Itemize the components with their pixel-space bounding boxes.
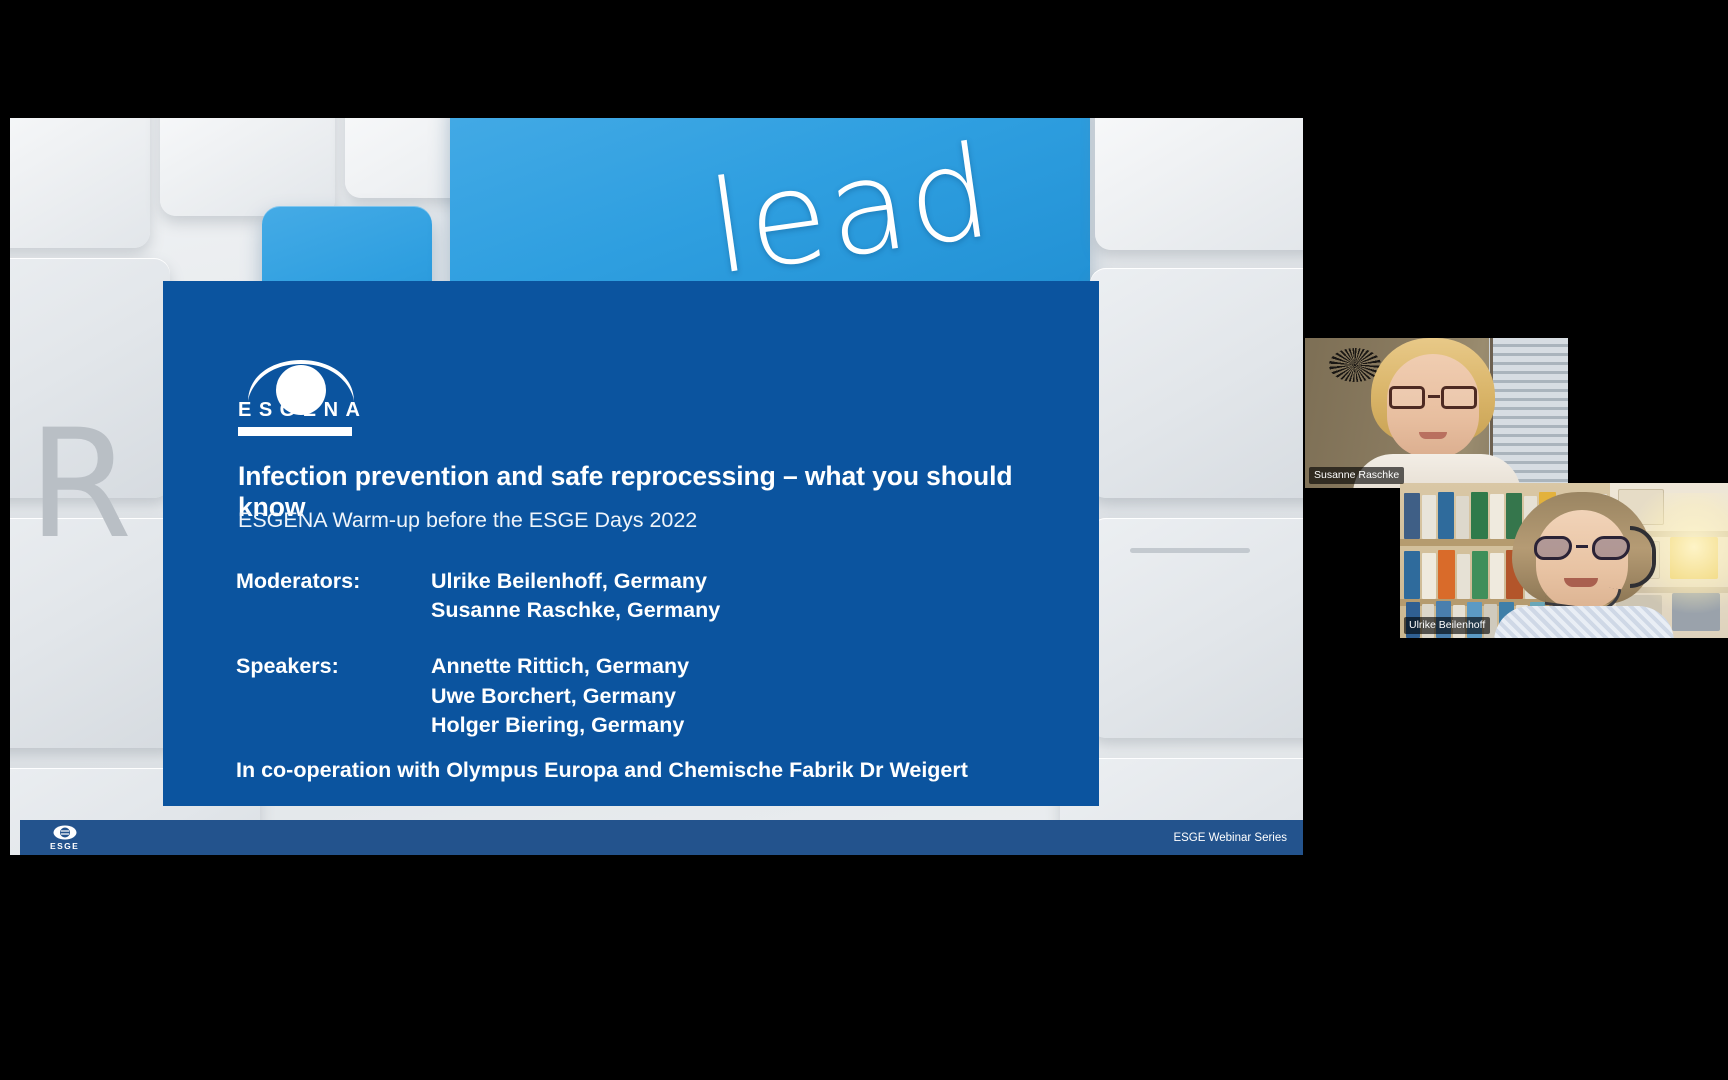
participant-video-person (1508, 492, 1658, 638)
shared-screen-area[interactable]: R lead ESGENA Infection prevention and s… (10, 118, 1303, 855)
meeting-window: R lead ESGENA Infection prevention and s… (0, 0, 1728, 1080)
role-label: Speakers: (236, 652, 431, 740)
video-feed (1400, 483, 1728, 638)
clothing (1494, 606, 1674, 638)
slide-subtitle: ESGENA Warm-up before the ESGE Days 2022 (238, 508, 697, 533)
glasses-icon (1387, 386, 1479, 410)
person-name: Uwe Borchert, Germany (431, 682, 689, 711)
person-name: Ulrike Beilenhoff, Germany (431, 567, 720, 596)
keyboard-mark (1130, 548, 1250, 553)
participant-name-label: Ulrike Beilenhoff (1404, 617, 1490, 634)
slide-roles: Moderators: Ulrike Beilenhoff, Germany S… (236, 567, 720, 767)
participant-tile-susanne-raschke[interactable]: Susanne Raschke (1305, 338, 1568, 488)
cooperation-line: In co-operation with Olympus Europa and … (236, 758, 968, 783)
headset-icon (1630, 526, 1656, 588)
keyboard-key (160, 118, 335, 216)
esge-logo-label: ESGE (50, 841, 79, 851)
keyboard-letter-r: R (28, 398, 132, 572)
role-people: Annette Rittich, Germany Uwe Borchert, G… (431, 652, 689, 740)
keyboard-key (10, 118, 150, 248)
esge-logo: ESGE (50, 825, 79, 851)
slide-content-panel: ESGENA Infection prevention and safe rep… (163, 281, 1099, 806)
esgena-wordmark: ESGENA (238, 399, 367, 422)
esgena-underline (238, 427, 352, 436)
mouth (1419, 432, 1447, 439)
person-name: Susanne Raschke, Germany (431, 596, 720, 625)
slide-footer-bar: ESGE ESGE Webinar Series (20, 820, 1303, 855)
role-people: Ulrike Beilenhoff, Germany Susanne Rasch… (431, 567, 720, 625)
esge-eye-logo-icon (53, 825, 77, 840)
glasses-icon (1534, 536, 1630, 560)
keyboard-key (1090, 268, 1303, 498)
person-name: Holger Biering, Germany (431, 711, 689, 740)
role-block-speakers: Speakers: Annette Rittich, Germany Uwe B… (236, 652, 720, 740)
person-name: Annette Rittich, Germany (431, 652, 689, 681)
slide-footer-right-text: ESGE Webinar Series (1173, 832, 1287, 844)
participant-name-label: Susanne Raschke (1309, 467, 1404, 484)
keyboard-key (1095, 118, 1303, 250)
role-label: Moderators: (236, 567, 431, 625)
role-block-moderators: Moderators: Ulrike Beilenhoff, Germany S… (236, 567, 720, 625)
participant-tile-ulrike-beilenhoff[interactable]: Ulrike Beilenhoff (1400, 483, 1728, 638)
participant-video-person (1361, 338, 1511, 488)
video-feed (1305, 338, 1568, 488)
